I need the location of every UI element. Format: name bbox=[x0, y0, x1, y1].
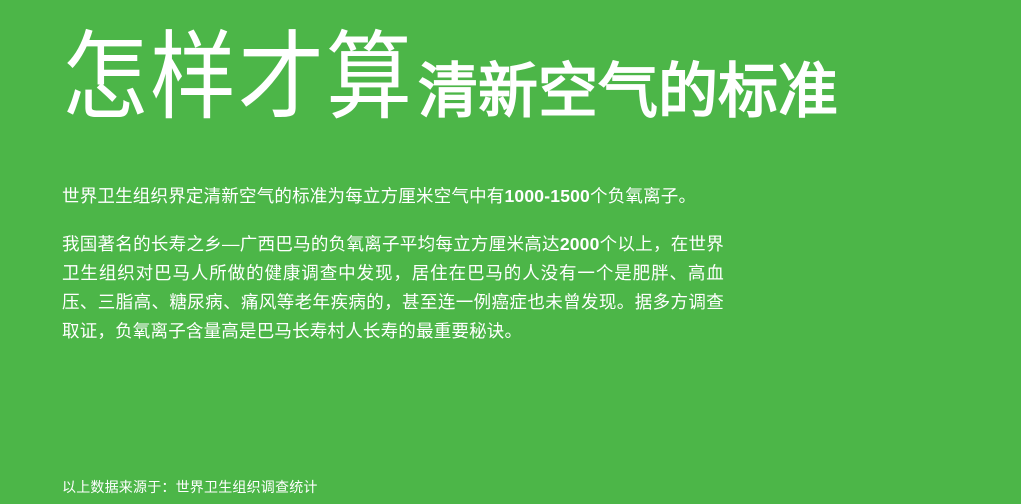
headline-lead-text: 怎样才算 bbox=[62, 30, 414, 126]
paragraph-standard-before: 世界卫生组织界定清新空气的标准为每立方厘米空气中有 bbox=[62, 186, 505, 206]
paragraph-bama-highlight: 2000 bbox=[560, 234, 600, 254]
page-title: 怎样才算 清新空气的标准 bbox=[62, 40, 962, 148]
source-note: 以上数据来源于：世界卫生组织调查统计 bbox=[62, 477, 318, 497]
poster-canvas: 怎样才算 清新空气的标准 世界卫生组织界定清新空气的标准为每立方厘米空气中有10… bbox=[0, 0, 1021, 504]
paragraph-bama: 我国著名的长寿之乡—广西巴马的负氧离子平均每立方厘米高达2000个以上，在世界卫… bbox=[62, 230, 724, 346]
paragraph-standard-after: 个负氧离子。 bbox=[590, 186, 696, 206]
body-copy: 世界卫生组织界定清新空气的标准为每立方厘米空气中有1000-1500个负氧离子。… bbox=[62, 182, 724, 346]
paragraph-standard: 世界卫生组织界定清新空气的标准为每立方厘米空气中有1000-1500个负氧离子。 bbox=[62, 182, 724, 211]
headline-emphasis-text: 清新空气的标准 bbox=[418, 62, 838, 122]
paragraph-bama-before: 我国著名的长寿之乡—广西巴马的负氧离子平均每立方厘米高达 bbox=[62, 234, 560, 254]
paragraph-standard-highlight: 1000-1500 bbox=[505, 186, 591, 206]
